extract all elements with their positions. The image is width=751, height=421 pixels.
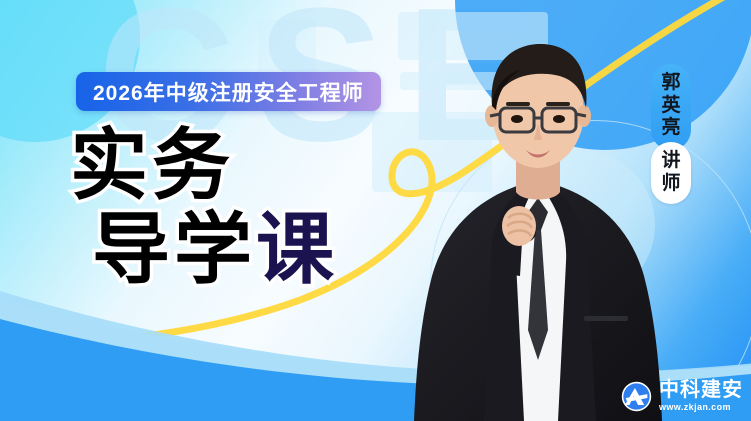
instructor-name-pill: 郭 英 亮 (651, 64, 691, 150)
instructor-name-char-0: 郭 (661, 73, 680, 94)
badge-label: 2026年中级注册安全工程师 (93, 77, 364, 107)
logo-brand-name: 中科建安 (659, 380, 743, 400)
logo-text-block: 中科建安 www.zkjan.com (659, 380, 743, 412)
instructor-role-pill: 讲 师 (651, 142, 691, 204)
mountain-logo-icon (621, 381, 652, 412)
instructor-name-char-2: 亮 (661, 118, 680, 139)
page-title: 实务 导学课 (70, 128, 338, 287)
title-line-2-part-b: 课 (256, 205, 338, 293)
title-line-2: 导学课 (92, 212, 338, 288)
brand-logo: 中科建安 www.zkjan.com (621, 380, 743, 412)
instructor-role-char-1: 师 (661, 174, 680, 195)
instructor-info: 郭 英 亮 讲 师 (651, 64, 691, 150)
instructor-role-char-0: 讲 (661, 151, 680, 172)
title-line-2-part-a: 导学 (92, 205, 256, 293)
course-category-badge: 2026年中级注册安全工程师 (76, 72, 381, 111)
instructor-name-char-1: 英 (661, 96, 680, 117)
instructor-photo (388, 30, 688, 421)
logo-url: www.zkjan.com (659, 403, 743, 412)
title-line-1: 实务 (70, 128, 338, 204)
course-poster: CSE 2026年中级注册安全工程师 实务 导学课 (0, 0, 751, 421)
